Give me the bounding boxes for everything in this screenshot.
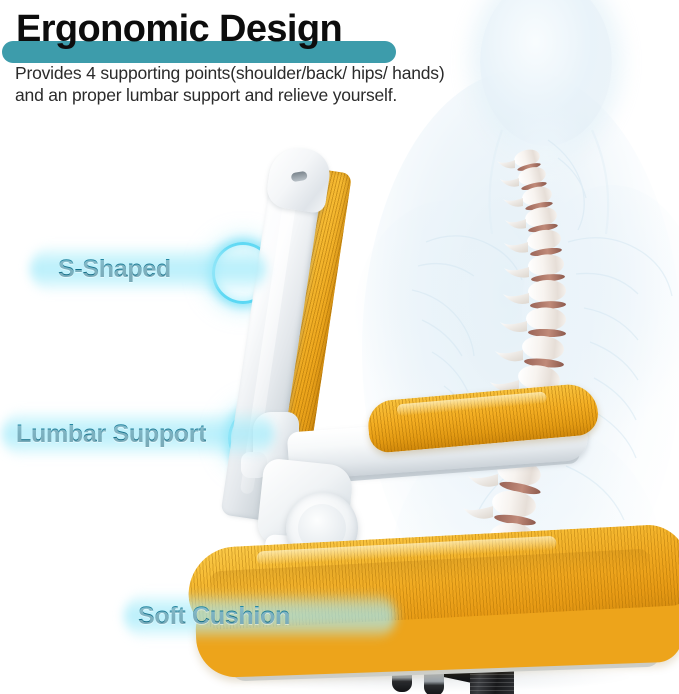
headrest-mount xyxy=(265,144,334,214)
header-block: Ergonomic Design Provides 4 supporting p… xyxy=(0,0,679,125)
callout-label-soft-cushion: Soft Cushion xyxy=(138,602,290,631)
subtitle-line-1: Provides 4 supporting points(shoulder/ba… xyxy=(15,63,444,84)
callout-s-shaped: S-Shaped xyxy=(30,245,290,293)
callout-lumbar-support: Lumbar Support xyxy=(2,410,302,458)
page-title: Ergonomic Design xyxy=(16,10,342,48)
product-feature-graphic: S-Shaped Lumbar Support Soft Cushion Erg… xyxy=(0,0,679,694)
subtitle-line-2: and an proper lumbar support and relieve… xyxy=(15,85,397,106)
callout-soft-cushion: Soft Cushion xyxy=(124,592,424,640)
headrest-slot xyxy=(291,171,308,183)
callout-label-lumbar-support: Lumbar Support xyxy=(16,420,206,449)
callout-label-s-shaped: S-Shaped xyxy=(58,255,171,284)
armrest-pad-highlight xyxy=(396,391,546,416)
